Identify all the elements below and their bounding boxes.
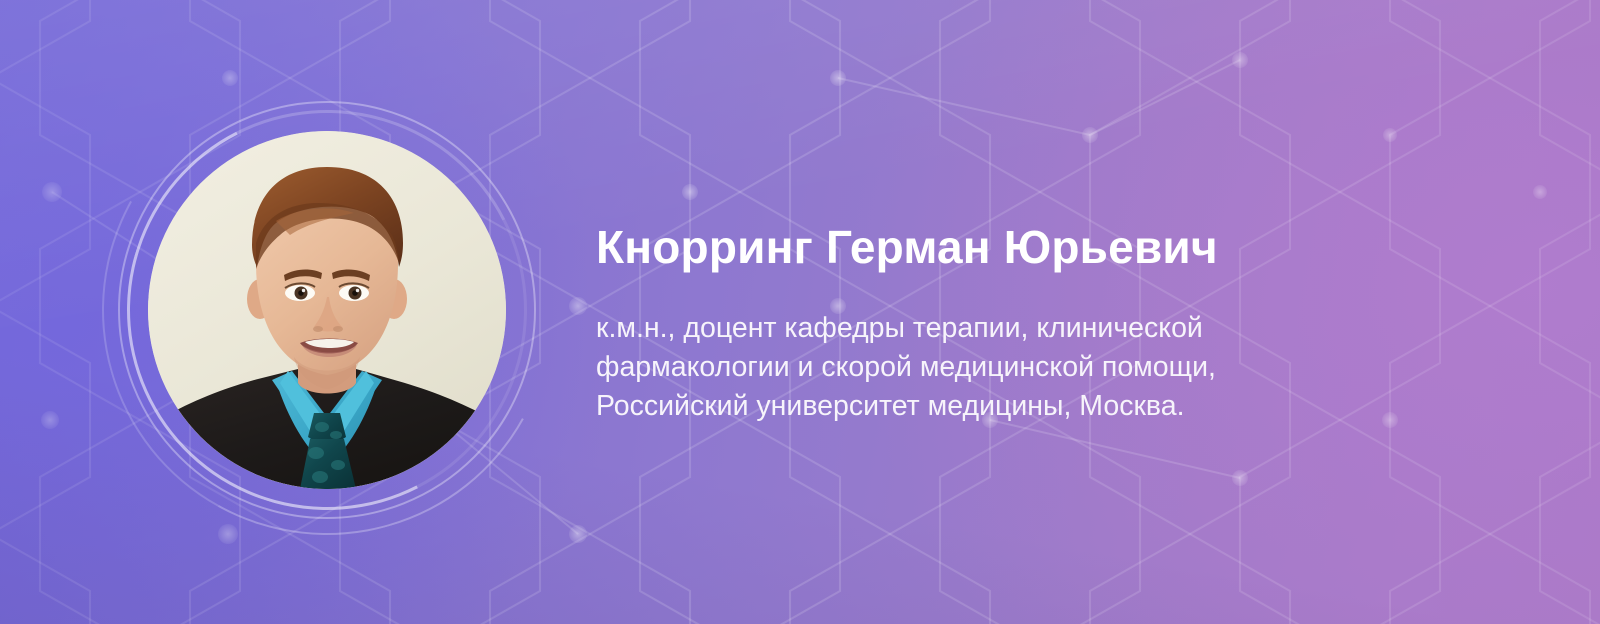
speaker-banner: Портрет мужчины в тёмном пиджаке, бирюзо…	[0, 0, 1600, 624]
speaker-credentials: к.м.н., доцент кафедры терапии, клиничес…	[596, 309, 1326, 426]
speaker-name: Кнорринг Герман Юрьевич	[596, 222, 1396, 273]
credentials-line-2: фармакологии и скорой медицинской помощи…	[596, 348, 1326, 387]
credentials-line-3: Российский университет медицины, Москва.	[596, 387, 1326, 426]
avatar: Портрет мужчины в тёмном пиджаке, бирюзо…	[148, 131, 506, 489]
speaker-text-block: Кнорринг Герман Юрьевич к.м.н., доцент к…	[596, 222, 1396, 426]
avatar-photo: Портрет мужчины в тёмном пиджаке, бирюзо…	[148, 131, 506, 489]
credentials-line-1: к.м.н., доцент кафедры терапии, клиничес…	[596, 309, 1326, 348]
